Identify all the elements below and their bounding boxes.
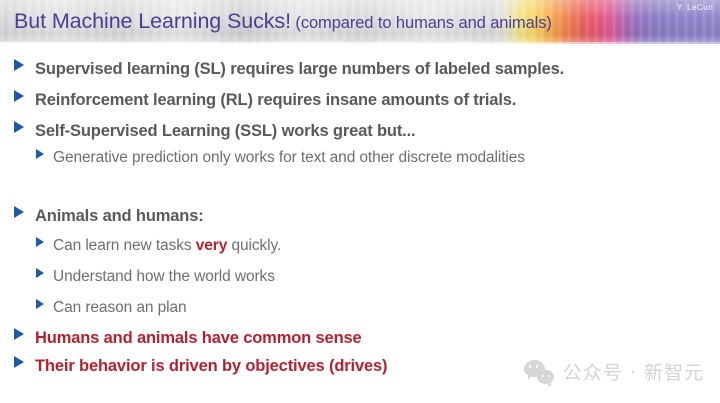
triangle-bullet-icon: [36, 149, 44, 159]
bullet-text: Humans and animals have common sense: [35, 329, 362, 348]
bullet-text: Reinforcement learning (RL) requires ins…: [35, 91, 516, 110]
triangle-bullet-icon: [36, 237, 44, 247]
sub-bullet-item: Generative prediction only works for tex…: [36, 149, 525, 167]
wechat-icon: [524, 359, 554, 384]
triangle-bullet-icon: [14, 59, 24, 71]
triangle-bullet-icon: [14, 328, 24, 340]
slide-body: Supervised learning (SL) requires large …: [0, 44, 720, 403]
triangle-bullet-icon: [36, 299, 44, 309]
slide-title-main: But Machine Learning Sucks!: [14, 9, 291, 33]
triangle-bullet-icon: [14, 206, 24, 218]
sub-bullet-text: Can reason an plan: [53, 299, 187, 317]
sub-bullet-item: Understand how the world works: [36, 268, 275, 286]
bullet-text: Supervised learning (SL) requires large …: [35, 60, 564, 79]
author-credit: Y. LeCun: [677, 2, 713, 12]
bullet-item: Humans and animals have common sense: [14, 329, 362, 348]
watermark-text: 公众号 · 新智元: [563, 358, 704, 385]
sub-bullet-text-before: Can learn new tasks: [53, 237, 196, 254]
bullet-item: Supervised learning (SL) requires large …: [14, 60, 564, 79]
triangle-bullet-icon: [36, 268, 44, 278]
triangle-bullet-icon: [14, 90, 24, 102]
sub-bullet-text-after: quickly.: [227, 237, 281, 254]
bullet-item: Their behavior is driven by objectives (…: [14, 357, 387, 376]
bullet-text: Self-Supervised Learning (SSL) works gre…: [35, 122, 415, 141]
bullet-text: Animals and humans:: [35, 207, 204, 226]
sub-bullet-text: Can learn new tasks very quickly.: [53, 237, 281, 255]
sub-bullet-item: Can reason an plan: [36, 299, 187, 317]
triangle-bullet-icon: [14, 356, 24, 368]
sub-bullet-item: Can learn new tasks very quickly.: [36, 237, 281, 255]
bullet-item: Animals and humans:: [14, 207, 204, 226]
bullet-item: Reinforcement learning (RL) requires ins…: [14, 91, 516, 110]
sub-bullet-text: Generative prediction only works for tex…: [53, 149, 525, 167]
watermark: 公众号 · 新智元: [524, 358, 704, 385]
slide-title: But Machine Learning Sucks! (compared to…: [14, 11, 552, 33]
sub-bullet-text: Understand how the world works: [53, 268, 275, 286]
triangle-bullet-icon: [14, 121, 24, 133]
bullet-item: Self-Supervised Learning (SSL) works gre…: [14, 122, 415, 141]
slide-title-subtitle: (compared to humans and animals): [295, 14, 551, 32]
emphasis-word: very: [196, 237, 228, 254]
bullet-text: Their behavior is driven by objectives (…: [35, 357, 387, 376]
